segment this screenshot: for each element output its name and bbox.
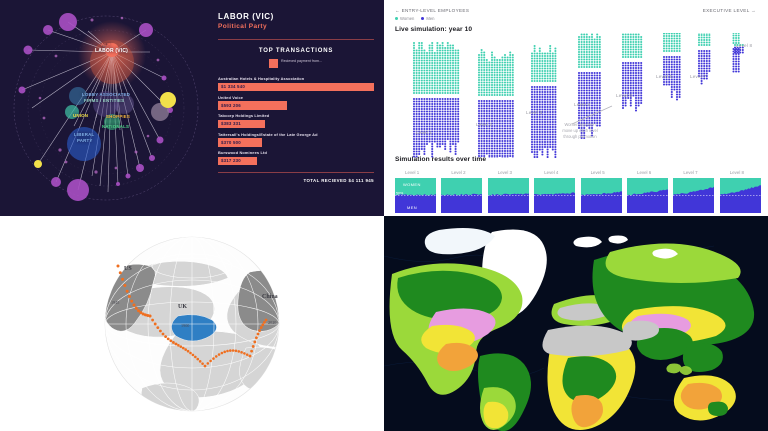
level-label: Level 7 [690,74,706,79]
transaction-amount: $370 500 [221,140,241,145]
mini-chart-label: Level 1 [405,170,419,175]
divider-top [218,39,374,40]
transaction-list: Australian Hotels & Hospitality Associat… [218,76,374,165]
transaction-row[interactable]: Tabcorp Holdings Limited$383 331 [218,113,374,128]
network-cluster-label: SHOPPIES [106,114,130,119]
transaction-row[interactable]: Australian Hotels & Hospitality Associat… [218,76,374,91]
mini-chart-label: Level 3 [498,170,512,175]
party-subtitle: Political Party [218,23,374,30]
executive-level-axis-label: EXECUTIVE LEVEL → [703,8,756,13]
network-cluster-label: LIBERAL [74,132,94,137]
mini-area-chart[interactable] [441,178,482,213]
dashboard-grid: ALP LABOR (VIC) LOBBY ASSOCIATEDFIRMS / … [0,0,768,431]
network-graph[interactable]: ALP LABOR (VIC) LOBBY ASSOCIATEDFIRMS / … [0,0,212,216]
total-recieved: TOTAL RECIEVED $4 111 945 [218,178,374,183]
network-svg [0,0,212,216]
transaction-row[interactable]: United Voice$593 206 [218,95,374,110]
mini-chart-label: Level 4 [544,170,558,175]
globe-year-marker: 2020 [268,320,276,325]
transaction-amount: $383 331 [221,121,241,126]
globe-year-marker: 1900 [181,323,189,328]
mini-area-chart[interactable] [534,178,575,213]
level-label: Level 5 [616,93,632,98]
legend-men: Men [421,16,434,21]
level-label: Level 6 [656,74,672,79]
mini-chart-label: Level 2 [451,170,465,175]
network-cluster-label: PARTY [77,138,93,143]
mini-area-chart[interactable] [673,178,714,213]
transaction-amount: $593 206 [221,103,241,108]
mini-area-chart[interactable] [720,178,761,213]
transaction-name: Tattersall's Holdings/Estate of the Late… [218,132,374,137]
mini-label-women: WOMEN [403,182,421,187]
panel-political-network: ALP LABOR (VIC) LOBBY ASSOCIATEDFIRMS / … [0,0,384,216]
network-cluster-label: FIRMS / ENTITIES [84,98,124,103]
transaction-name: Australian Hotels & Hospitality Associat… [218,76,374,81]
mini-chart-label: Level 6 [637,170,651,175]
transaction-bar: $370 500 [218,138,262,147]
level-label: Level 8 [736,43,752,48]
transaction-name: Tabcorp Holdings Limited [218,113,374,118]
network-center-label-main: LABOR (VIC) [95,48,128,54]
panel-globe: USChinaUK194519002020 [0,216,384,431]
transaction-amount: $1 334 540 [221,84,245,89]
transaction-name: United Voice [218,95,374,100]
transaction-bar: $383 331 [218,120,265,129]
level-label: Level 3 [526,110,542,115]
panel-workforce-simulation: ← ENTRY-LEVEL EMPLOYEES EXECUTIVE LEVEL … [384,0,768,216]
network-cluster-label: NATIONALS [102,124,129,129]
level-label: Level 1 [416,130,432,135]
legend-label: Recieved payment from... [281,59,323,68]
gender-legend: Women Men [395,16,435,21]
transaction-name: Burswood Nominees Ltd [218,150,374,155]
legend: Recieved payment from... [218,59,374,68]
entry-level-axis-label: ← ENTRY-LEVEL EMPLOYEES [395,8,469,13]
live-simulation-heading: Live simulation: year 10 [395,26,472,33]
level-label: Level 2 [476,122,492,127]
transaction-row[interactable]: Burswood Nominees Ltd$317 230 [218,150,374,165]
mini-label-men: MEN [407,205,417,210]
legend-women: Women [395,16,414,21]
transaction-amount: $317 230 [221,158,241,163]
network-cluster-label: UNION [73,113,88,118]
top-transactions-heading: TOP TRANSACTIONS [218,48,374,54]
legend-swatch-icon [269,59,278,68]
party-title: LABOR (VIC) [218,12,374,21]
network-cluster-label: LOBBY ASSOCIATED [82,92,130,97]
mini-area-chart[interactable] [581,178,622,213]
transaction-bar: $593 206 [218,101,287,110]
mini-chart-label: Level 8 [730,170,744,175]
network-center-label-top: ALP [101,42,110,47]
divider-bottom [218,172,374,173]
globe-country-label: US [124,266,132,272]
mini-chart-label: Level 7 [683,170,697,175]
mini-chart-label: Level 5 [591,170,605,175]
transaction-row[interactable]: Tattersall's Holdings/Estate of the Late… [218,132,374,147]
globe-country-label: UK [178,304,187,310]
globe-svg[interactable] [0,216,384,431]
mini-area-chart[interactable]: WOMEN50%MEN [395,178,436,213]
mini-area-chart[interactable] [488,178,529,213]
globe-country-label: China [262,294,278,300]
panel-land-cover-map [384,216,768,431]
transactions-sidebar: LABOR (VIC) Political Party TOP TRANSACT… [212,0,384,216]
transaction-bar: $317 230 [218,157,257,166]
mini-area-chart[interactable] [627,178,668,213]
globe-year-marker: 1945 [111,300,119,305]
landcover-svg[interactable] [384,216,768,431]
results-heading: Simulation results over time [395,156,486,163]
promotion-note: Women and men move up each level through… [540,122,620,140]
mini-label-midline: 50% [396,192,404,196]
transaction-bar: $1 334 540 [218,83,374,92]
